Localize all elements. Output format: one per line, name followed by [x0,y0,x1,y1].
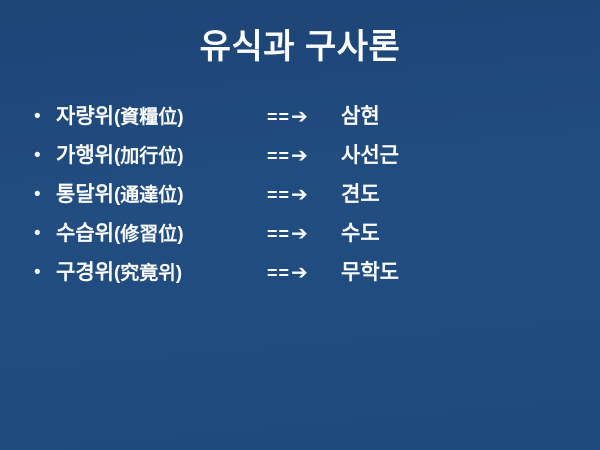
presentation-slide: 유식과 구사론 • 자량위(資糧位) ==➔ 삼현 • 가행위(加行位) ==➔… [0,0,600,450]
term-korean-text: 구경위 [56,261,114,284]
list-item: • 수습위(修習位) ==➔ 수도 [34,219,574,258]
list-item-term: 수습위(修習位) [56,219,267,250]
right-arrow-icon: ➔ [290,223,309,245]
bullet-point-icon: • [34,180,56,210]
bullet-point-icon: • [34,102,56,132]
connector-arrow: ==➔ [267,141,341,172]
right-arrow-icon: ➔ [290,184,309,206]
term-hanja-text: (究竟위) [114,263,182,284]
equals-sign: == [267,224,290,244]
equals-sign: == [267,146,290,166]
equals-sign: == [267,107,290,127]
connector-arrow: ==➔ [267,180,341,211]
term-korean-text: 가행위 [56,144,114,167]
bullet-list: • 자량위(資糧位) ==➔ 삼현 • 가행위(加行位) ==➔ 사선근 • 통… [34,102,574,297]
equals-sign: == [267,263,290,283]
term-hanja-text: (修習位) [114,224,184,245]
bullet-point-icon: • [34,141,56,171]
list-item-result: 견도 [341,180,574,210]
equals-sign: == [267,185,290,205]
term-korean-text: 수습위 [56,222,114,245]
right-arrow-icon: ➔ [290,262,309,284]
term-korean-text: 통달위 [56,183,114,206]
list-item: • 구경위(究竟위) ==➔ 무학도 [34,258,574,297]
slide-title-area: 유식과 구사론 [0,26,600,68]
page-title: 유식과 구사론 [200,26,401,68]
list-item-term: 구경위(究竟위) [56,258,267,289]
term-korean-text: 자량위 [56,105,114,128]
connector-arrow: ==➔ [267,102,341,133]
bullet-point-icon: • [34,219,56,249]
bullet-point-icon: • [34,258,56,288]
list-item-term: 통달위(通達位) [56,180,267,211]
list-item-term: 가행위(加行位) [56,141,267,172]
list-item-result: 무학도 [341,258,574,288]
connector-arrow: ==➔ [267,219,341,250]
list-item-result: 사선근 [341,141,574,171]
list-item: • 자량위(資糧位) ==➔ 삼현 [34,102,574,141]
list-item-term: 자량위(資糧位) [56,102,267,133]
list-item-result: 삼현 [341,102,574,132]
term-hanja-text: (資糧位) [114,107,184,128]
list-item: • 통달위(通達位) ==➔ 견도 [34,180,574,219]
list-item-result: 수도 [341,219,574,249]
right-arrow-icon: ➔ [290,145,309,167]
connector-arrow: ==➔ [267,258,341,289]
term-hanja-text: (通達位) [114,185,184,206]
list-item: • 가행위(加行位) ==➔ 사선근 [34,141,574,180]
right-arrow-icon: ➔ [290,106,309,128]
term-hanja-text: (加行位) [114,146,184,167]
